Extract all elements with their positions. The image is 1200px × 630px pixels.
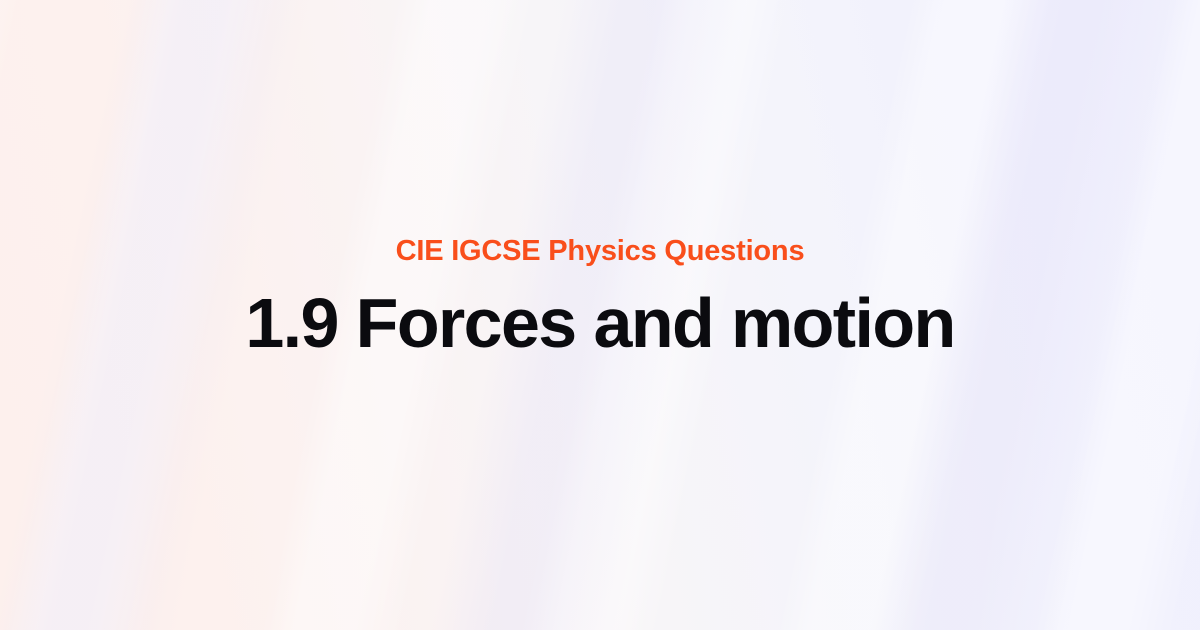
hero-text-block: CIE IGCSE Physics Questions 1.9 Forces a… xyxy=(0,236,1200,362)
eyebrow-subtitle: CIE IGCSE Physics Questions xyxy=(396,236,805,266)
page-title: 1.9 Forces and motion xyxy=(245,286,954,362)
hero-card: CIE IGCSE Physics Questions 1.9 Forces a… xyxy=(0,0,1200,630)
